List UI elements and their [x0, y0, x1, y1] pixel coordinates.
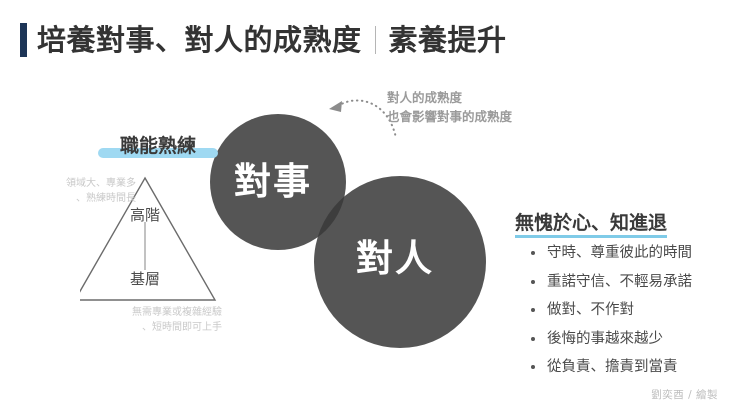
list-item: 後悔的事越來越少: [528, 332, 692, 347]
arrow-note-line2: 也會影響對事的成熟度: [387, 107, 512, 126]
credit-text: 劉奕酉 / 繪製: [651, 387, 718, 402]
arrow-note-line1: 對人的成熟度: [387, 88, 512, 107]
list-item: 守時、尊重彼此的時間: [528, 246, 692, 261]
title-sub-text: 素養提升: [389, 26, 507, 55]
pyramid-bottom-label: 基層: [85, 272, 205, 287]
maturity-list-heading-underline: [515, 235, 667, 238]
title-main-text: 培養對事、對人的成熟度: [37, 26, 362, 55]
list-item: 重諾守信、不輕易承諾: [528, 275, 692, 290]
circle-people-label: 對人: [356, 240, 434, 277]
pyramid-heading-label: 職能熟練: [120, 136, 196, 158]
pyramid-note-top: 領域大、專業多 、熟練時間長: [18, 176, 136, 206]
page-title: 培養對事、對人的成熟度 素養提升: [0, 14, 740, 66]
slide-canvas: 培養對事、對人的成熟度 素養提升 職能熟練 高階 基層 領域大、專業多 、熟練時…: [0, 0, 740, 416]
title-accent-bar: [20, 23, 27, 57]
title-divider: [375, 26, 376, 54]
list-item: 做對、不作對: [528, 303, 692, 318]
circle-things-label: 對事: [234, 163, 312, 200]
pyramid-top-label: 高階: [85, 208, 205, 223]
list-item: 從負責、擔責到當責: [528, 360, 692, 375]
arrow-note: 對人的成熟度 也會影響對事的成熟度: [387, 88, 512, 127]
maturity-list-heading: 無愧於心、知進退: [515, 212, 667, 238]
maturity-list: 守時、尊重彼此的時間 重諾守信、不輕易承諾 做對、不作對 後悔的事越來越少 從負…: [528, 246, 692, 389]
